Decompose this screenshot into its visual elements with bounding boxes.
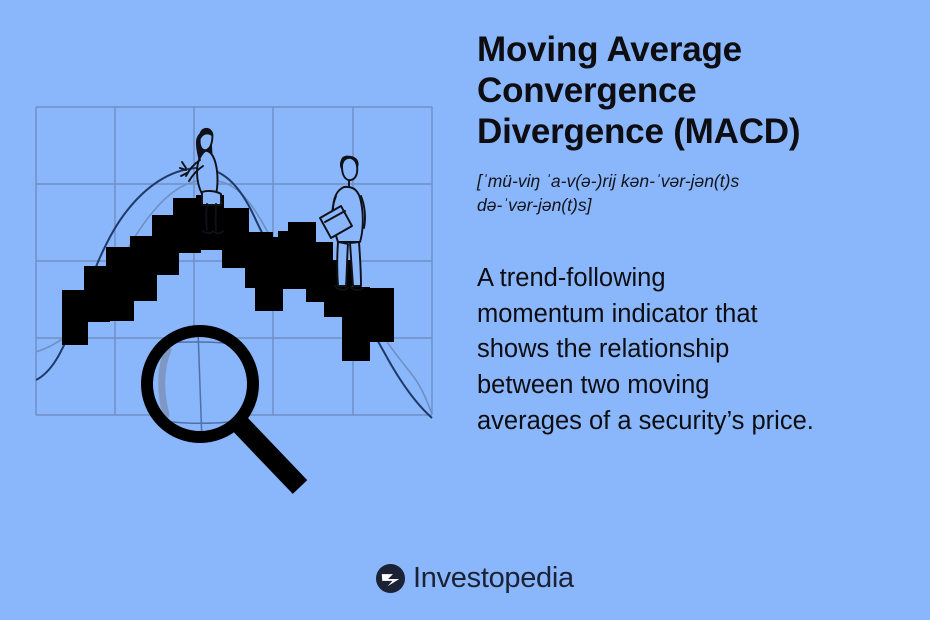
magnifier-handle xyxy=(236,420,300,487)
infographic-canvas: Moving Average Convergence Divergence (M… xyxy=(0,0,930,620)
macd-chart-illustration xyxy=(0,0,460,540)
investopedia-wordmark: Investopedia xyxy=(413,564,574,593)
text-column: Moving Average Convergence Divergence (M… xyxy=(477,30,907,440)
pronunciation-text: [ˈmü-viŋ ˈa-v(ə-)rij kən-ˈvər-jən(t)s də… xyxy=(477,169,907,217)
candlestick-bar xyxy=(366,288,394,342)
investopedia-logo: Investopedia xyxy=(375,563,574,594)
candlestick-bar xyxy=(342,287,370,361)
candlestick-bar xyxy=(222,208,249,268)
magnifying-glass xyxy=(145,330,300,487)
investopedia-bolt-icon xyxy=(375,563,406,594)
candlestick-bar xyxy=(106,247,133,307)
definition-text: A trend-following momentum indicator tha… xyxy=(477,261,907,439)
page-title: Moving Average Convergence Divergence (M… xyxy=(477,30,907,153)
